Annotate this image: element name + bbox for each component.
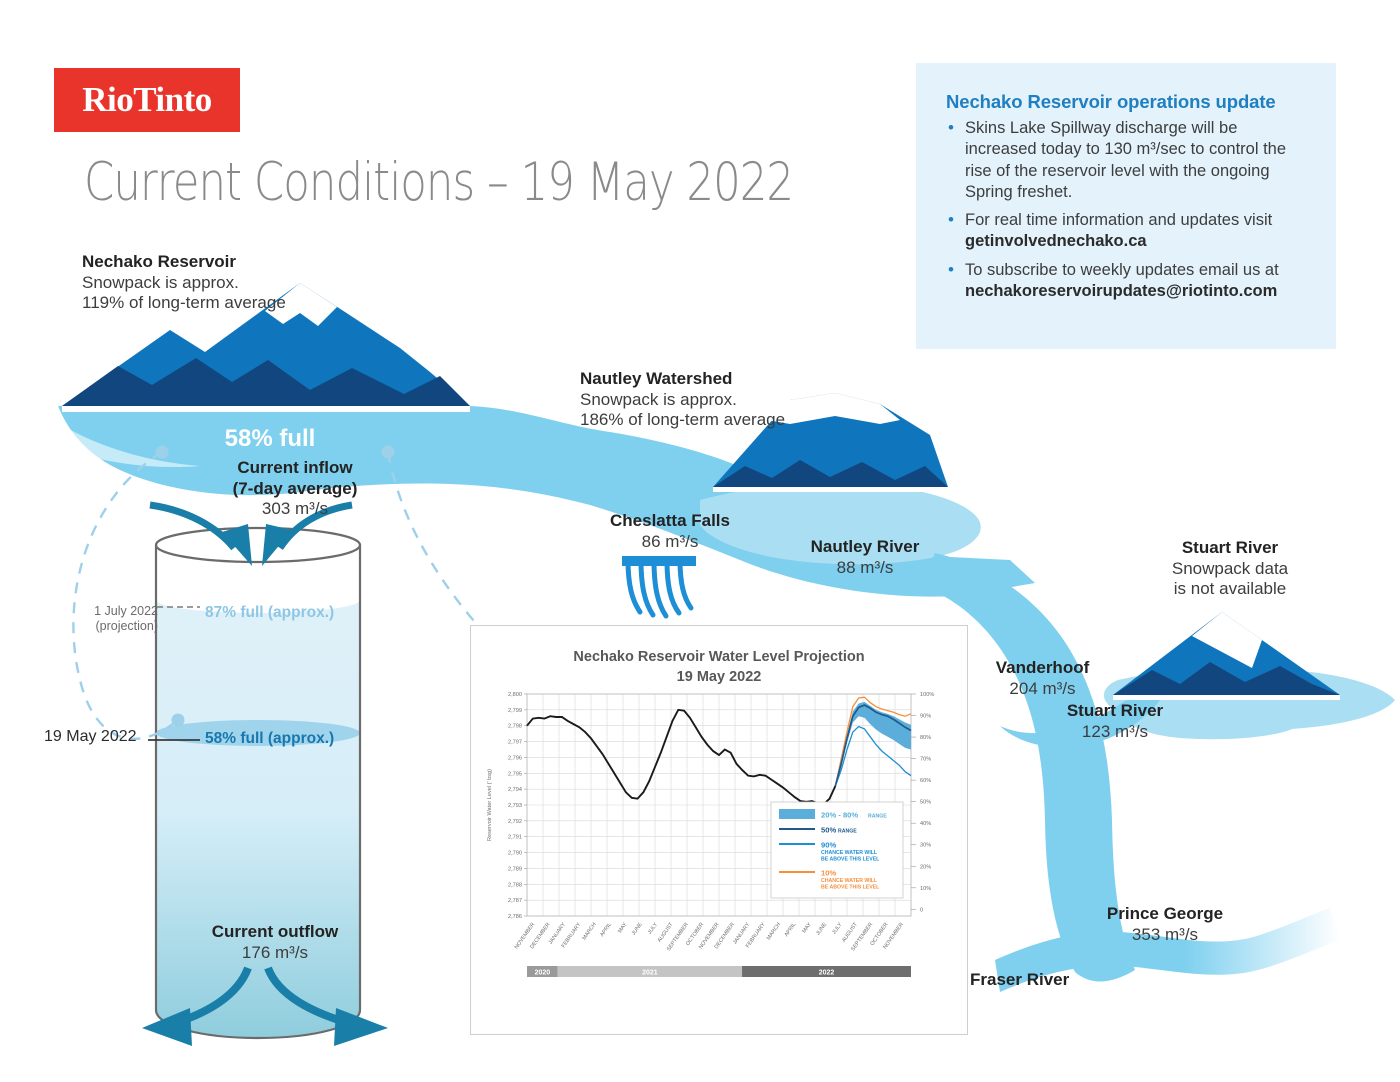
svg-text:BE ABOVE THIS LEVEL: BE ABOVE THIS LEVEL (821, 857, 880, 863)
label-stuart-river-value: 123 m³/s (1082, 722, 1148, 741)
svg-text:2,794: 2,794 (508, 787, 522, 793)
svg-text:2021: 2021 (642, 970, 658, 977)
label-stuart-river-title: Stuart River (1045, 701, 1185, 722)
svg-text:30%: 30% (920, 843, 931, 849)
label-cheslatta-value: 86 m³/s (642, 532, 699, 551)
website-link[interactable]: getinvolvednechako.ca (965, 232, 1147, 250)
label-prince-george-title: Prince George (1095, 904, 1235, 925)
outflow-title: Current outflow (185, 922, 365, 943)
chart-subtitle: 19 May 2022 (677, 669, 762, 685)
projection-date: 1 July 2022 (94, 604, 158, 618)
label-stuart-snow-line1: Snowpack data (1172, 559, 1288, 578)
bullet-subscribe: To subscribe to weekly updates email us … (946, 260, 1306, 303)
label-nautley-river-value: 88 m³/s (837, 558, 894, 577)
svg-text:MAY: MAY (617, 921, 629, 934)
svg-text:80%: 80% (920, 735, 931, 741)
label-cheslatta-falls: Cheslatta Falls 86 m³/s (600, 511, 740, 552)
label-stuart-snow-line2: is not available (1174, 579, 1286, 598)
svg-text:CHANCE WATER WILL: CHANCE WATER WILL (821, 850, 878, 856)
svg-text:Reservoir Water Level (' bsg): Reservoir Water Level (' bsg) (487, 769, 493, 841)
rio-tinto-logo: RioTinto (54, 68, 240, 132)
label-vanderhoof: Vanderhoof 204 m³/s (975, 658, 1110, 699)
svg-text:RANGE: RANGE (838, 829, 857, 835)
svg-text:2,790: 2,790 (508, 851, 522, 857)
svg-text:MAY: MAY (801, 921, 813, 934)
label-current-outflow: Current outflow 176 m³/s (185, 922, 365, 963)
label-nechako-title: Nechako Reservoir (82, 252, 302, 273)
svg-text:20% - 80%: 20% - 80% (821, 811, 858, 820)
bullet-spillway: Skins Lake Spillway discharge will be in… (946, 118, 1306, 203)
operations-update-panel: Nechako Reservoir operations update Skin… (916, 63, 1336, 349)
label-nautley-river: Nautley River 88 m³/s (790, 537, 940, 578)
label-nechako-reservoir: Nechako Reservoir Snowpack is approx. 11… (82, 252, 302, 314)
operations-update-list: Skins Lake Spillway discharge will be in… (946, 118, 1306, 302)
svg-text:2022: 2022 (819, 970, 835, 977)
svg-text:2,800: 2,800 (508, 692, 522, 698)
chart-title-block: Nechako Reservoir Water Level Projection… (471, 648, 967, 687)
annotation-current-date: 19 May 2022 (44, 728, 149, 746)
inflow-subtitle: (7-day average) (195, 479, 395, 500)
svg-text:CHANCE WATER WILL: CHANCE WATER WILL (821, 878, 878, 884)
svg-text:JUNE: JUNE (631, 921, 644, 936)
page-title: Current Conditions – 19 May 2022 (84, 152, 793, 213)
svg-text:APRIL: APRIL (784, 922, 798, 938)
logo-text: RioTinto (82, 80, 212, 120)
bullet-realtime-info: For real time information and updates vi… (946, 210, 1306, 253)
svg-text:20%: 20% (920, 864, 931, 870)
svg-text:2,791: 2,791 (508, 835, 522, 841)
projection-note: (projection) (95, 619, 158, 633)
svg-text:JUNE: JUNE (815, 921, 828, 936)
label-current-inflow: Current inflow (7-day average) 303 m³/s (195, 458, 395, 520)
inflow-title: Current inflow (195, 458, 395, 479)
infographic-canvas: RioTinto Current Conditions – 19 May 202… (0, 0, 1400, 1082)
svg-text:2,788: 2,788 (508, 882, 522, 888)
svg-text:2,786: 2,786 (508, 914, 522, 920)
label-vanderhoof-title: Vanderhoof (975, 658, 1110, 679)
svg-text:90%: 90% (821, 841, 836, 850)
svg-text:MARCH: MARCH (766, 922, 782, 942)
label-nautley-river-title: Nautley River (790, 537, 940, 558)
stuart-mountain-icon (1113, 612, 1340, 700)
svg-text:2,787: 2,787 (508, 898, 522, 904)
label-nechako-line1: Snowpack is approx. (82, 273, 239, 292)
svg-text:2,792: 2,792 (508, 819, 522, 825)
svg-text:2,793: 2,793 (508, 803, 522, 809)
svg-text:70%: 70% (920, 757, 931, 763)
svg-text:JULY: JULY (831, 921, 843, 935)
svg-text:RANGE: RANGE (868, 814, 887, 820)
annotation-projection-date: 1 July 2022 (projection) (80, 604, 158, 634)
svg-text:2,798: 2,798 (508, 724, 522, 730)
svg-text:100%: 100% (920, 692, 934, 698)
svg-text:10%: 10% (821, 869, 836, 878)
label-nautley-line2: 186% of long-term average (580, 410, 785, 429)
label-nautley-watershed: Nautley Watershed Snowpack is approx. 18… (580, 369, 820, 431)
svg-text:MARCH: MARCH (582, 922, 598, 942)
svg-text:2,795: 2,795 (508, 771, 522, 777)
svg-text:40%: 40% (920, 821, 931, 827)
label-prince-george-value: 353 m³/s (1132, 925, 1198, 944)
water-level-projection-chart: Nechako Reservoir Water Level Projection… (470, 625, 968, 1035)
level-current-value: 58% full (approx.) (205, 730, 334, 748)
svg-text:2,796: 2,796 (508, 755, 522, 761)
reservoir-percent-full-banner: 58% full (200, 425, 340, 453)
level-projection-value: 87% full (approx.) (205, 604, 334, 622)
label-cheslatta-title: Cheslatta Falls (600, 511, 740, 532)
label-stuart-snowpack: Stuart River Snowpack data is not availa… (1150, 538, 1310, 600)
outflow-value: 176 m³/s (242, 943, 308, 962)
cheslatta-falls-icon (622, 556, 696, 616)
svg-text:2,797: 2,797 (508, 740, 522, 746)
svg-text:50%: 50% (920, 800, 931, 806)
label-fraser-river: Fraser River (970, 970, 1100, 991)
label-prince-george: Prince George 353 m³/s (1095, 904, 1235, 945)
label-nautley-line1: Snowpack is approx. (580, 390, 737, 409)
label-vanderhoof-value: 204 m³/s (1009, 679, 1075, 698)
svg-text:0: 0 (920, 907, 923, 913)
label-stuart-river: Stuart River 123 m³/s (1045, 701, 1185, 742)
svg-text:2,789: 2,789 (508, 866, 522, 872)
svg-text:60%: 60% (920, 778, 931, 784)
svg-text:2020: 2020 (535, 970, 551, 977)
svg-text:90%: 90% (920, 714, 931, 720)
svg-text:APRIL: APRIL (599, 922, 613, 938)
svg-text:BE ABOVE THIS LEVEL: BE ABOVE THIS LEVEL (821, 885, 880, 891)
label-nechako-line2: 119% of long-term average (82, 293, 286, 312)
email-link[interactable]: nechakoreservoirupdates@riotinto.com (965, 282, 1277, 300)
inflow-value: 303 m³/s (262, 499, 328, 518)
svg-text:JULY: JULY (647, 921, 659, 935)
svg-text:2,799: 2,799 (508, 708, 522, 714)
operations-update-heading: Nechako Reservoir operations update (946, 91, 1306, 113)
svg-text:50%: 50% (821, 826, 836, 835)
chart-plot-area: 2,8002,7992,7982,7972,7962,7952,7942,793… (471, 626, 969, 1036)
svg-text:10%: 10% (920, 886, 931, 892)
chart-title: Nechako Reservoir Water Level Projection (573, 649, 864, 665)
label-stuart-snow-title: Stuart River (1150, 538, 1310, 559)
label-nautley-title: Nautley Watershed (580, 369, 820, 390)
